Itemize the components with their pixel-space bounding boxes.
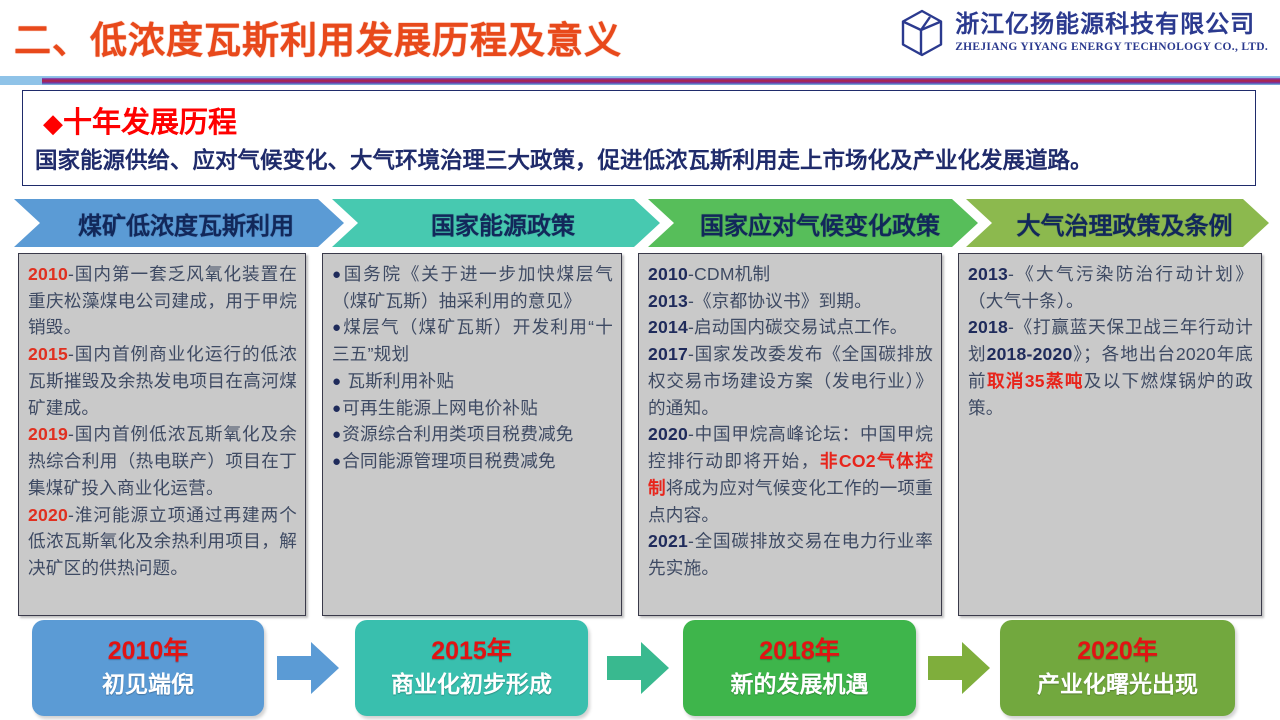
page-title: 二、低浓度瓦斯利用发展历程及意义 [14, 10, 622, 64]
year-label: 2018 [968, 317, 1008, 337]
year-label: 2010 [648, 264, 688, 284]
company-logo: 浙江亿扬能源科技有限公司 ZHEJIANG YIYANG ENERGY TECH… [899, 8, 1268, 58]
panel-text-line: ● 瓦斯利用补贴 [332, 368, 613, 395]
highlighted-term: 非CO2气体控制 [648, 451, 933, 498]
intro-box: ◆十年发展历程 国家能源供给、应对气候变化、大气环境治理三大政策，促进低浓瓦斯利… [22, 90, 1256, 186]
bullet-icon: ● [332, 424, 341, 447]
arrow-2010-to-2015-icon [277, 640, 339, 696]
milestone-label: 商业化初步形成 [391, 670, 552, 699]
panel-climate-policy: 2010-CDM机制2013-《京都协议书》到期。2014-启动国内碳交易试点工… [638, 253, 942, 616]
content-panel-row: 2010-国内第一套乏风氧化装置在重庆松藻煤电公司建成，用于甲烷销毁。2015-… [18, 253, 1262, 616]
panel-energy-policy: ●国务院《关于进一步加快煤层气（煤矿瓦斯）抽采利用的意见》●煤层气（煤矿瓦斯）开… [322, 253, 622, 616]
panel-text-line: 2018-《打赢蓝天保卫战三年行动计划2018-2020》；各地出台2020年底… [968, 314, 1253, 421]
milestone-row: 2010年 初见端倪 2015年 商业化初步形成 2018年 新的发展机遇 20… [0, 620, 1280, 720]
company-name-cn: 浙江亿扬能源科技有限公司 [955, 13, 1268, 37]
milestone-2010[interactable]: 2010年 初见端倪 [32, 620, 264, 716]
bullet-icon: ● [332, 451, 341, 474]
intro-heading: ◆十年发展历程 [43, 99, 237, 141]
arrow-2015-to-2018-icon [607, 640, 669, 696]
milestone-label: 新的发展机遇 [731, 670, 869, 699]
panel-text-line: 2020-中国甲烷高峰论坛：中国甲烷控排行动即将开始，非CO2气体控制将成为应对… [648, 421, 933, 528]
panel-text-line: 2021-全国碳排放交易在电力行业率先实施。 [648, 528, 933, 581]
panel-text-line: ●煤层气（煤矿瓦斯）开发利用“十三五”规划 [332, 314, 613, 367]
year-label: 2015 [28, 344, 68, 364]
company-name-en: ZHEJIANG YIYANG ENERGY TECHNOLOGY CO., L… [955, 42, 1268, 54]
year-label: 2020 [28, 505, 68, 525]
panel-text-line: 2017-国家发改委发布《全国碳排放权交易市场建设方案（发电行业）》的通知。 [648, 341, 933, 421]
year-label: 2010 [28, 264, 68, 284]
panel-text-line: 2013-《京都协议书》到期。 [648, 288, 933, 315]
highlighted-term: 取消35蒸吨 [987, 371, 1084, 391]
milestone-2015[interactable]: 2015年 商业化初步形成 [355, 620, 588, 716]
panel-coal-mine-gas: 2010-国内第一套乏风氧化装置在重庆松藻煤电公司建成，用于甲烷销毁。2015-… [18, 253, 306, 616]
panel-text-line: ●国务院《关于进一步加快煤层气（煤矿瓦斯）抽采利用的意见》 [332, 261, 613, 314]
panel-text-line: 2015-国内首例商业化运行的低浓瓦斯摧毁及余热发电项目在高河煤矿建成。 [28, 341, 297, 421]
inline-number: 2018-2020 [987, 344, 1073, 364]
panel-text-line: ●可再生能源上网电价补贴 [332, 395, 613, 422]
panel-text-line: ●合同能源管理项目税费减免 [332, 448, 613, 475]
year-label: 2013 [648, 291, 688, 311]
milestone-2020[interactable]: 2020年 产业化曙光出现 [1000, 620, 1235, 716]
milestone-2018[interactable]: 2018年 新的发展机遇 [683, 620, 916, 716]
panel-text-line: 2020-淮河能源立项通过再建两个低浓瓦斯氧化及余热利用项目，解决矿区的供热问题… [28, 502, 297, 582]
bullet-icon: ● [332, 371, 341, 394]
year-label: 2019 [28, 424, 68, 444]
year-label: 2013 [968, 264, 1008, 284]
year-label: 2020 [648, 424, 688, 444]
bullet-icon: ● [332, 264, 341, 287]
ribbon-coal-mine-gas: 煤矿低浓度瓦斯利用 [14, 199, 344, 247]
milestone-year: 2010年 [108, 637, 189, 666]
panel-text-line: 2010-CDM机制 [648, 261, 933, 288]
panel-text-line: ●资源综合利用类项目税费减免 [332, 421, 613, 448]
hexagon-cube-logo-icon [899, 8, 945, 58]
header-stripe-tab [0, 76, 42, 85]
milestone-year: 2015年 [431, 637, 512, 666]
milestone-label: 产业化曙光出现 [1037, 670, 1198, 699]
panel-text-line: 2013-《大气污染防治行动计划》（大气十条）。 [968, 261, 1253, 314]
arrow-2018-to-2020-icon [928, 640, 990, 696]
bullet-icon: ● [332, 317, 341, 340]
panel-text-line: 2010-国内第一套乏风氧化装置在重庆松藻煤电公司建成，用于甲烷销毁。 [28, 261, 297, 341]
slide-root: 二、低浓度瓦斯利用发展历程及意义 浙江亿扬能源科技有限公司 ZHEJIANG Y… [0, 0, 1280, 720]
intro-paragraph: 国家能源供给、应对气候变化、大气环境治理三大政策，促进低浓瓦斯利用走上市场化及产… [35, 143, 1093, 175]
bullet-icon: ● [332, 398, 341, 421]
panel-text-line: 2014-启动国内碳交易试点工作。 [648, 314, 933, 341]
header-divider-stripe [0, 76, 1280, 85]
year-label: 2014 [648, 317, 688, 337]
ribbon-climate-policy: 国家应对气候变化政策 [648, 199, 978, 247]
diamond-bullet-icon: ◆ [43, 108, 63, 138]
year-label: 2021 [648, 531, 688, 551]
panel-air-policy: 2013-《大气污染防治行动计划》（大气十条）。2018-《打赢蓝天保卫战三年行… [958, 253, 1262, 616]
ribbon-air-policy: 大气治理政策及条例 [966, 199, 1269, 247]
milestone-year: 2018年 [759, 637, 840, 666]
milestone-label: 初见端倪 [102, 670, 194, 699]
year-label: 2017 [648, 344, 688, 364]
intro-heading-text: 十年发展历程 [63, 107, 237, 139]
slide-header: 二、低浓度瓦斯利用发展历程及意义 浙江亿扬能源科技有限公司 ZHEJIANG Y… [0, 0, 1280, 78]
milestone-year: 2020年 [1077, 637, 1158, 666]
ribbon-energy-policy: 国家能源政策 [332, 199, 660, 247]
chevron-ribbon-row: 煤矿低浓度瓦斯利用 国家能源政策 国家应对气候变化政策 大气治理政策及条例 [14, 199, 1269, 247]
panel-text-line: 2019-国内首例低浓瓦斯氧化及余热综合利用（热电联产）项目在丁集煤矿投入商业化… [28, 421, 297, 501]
